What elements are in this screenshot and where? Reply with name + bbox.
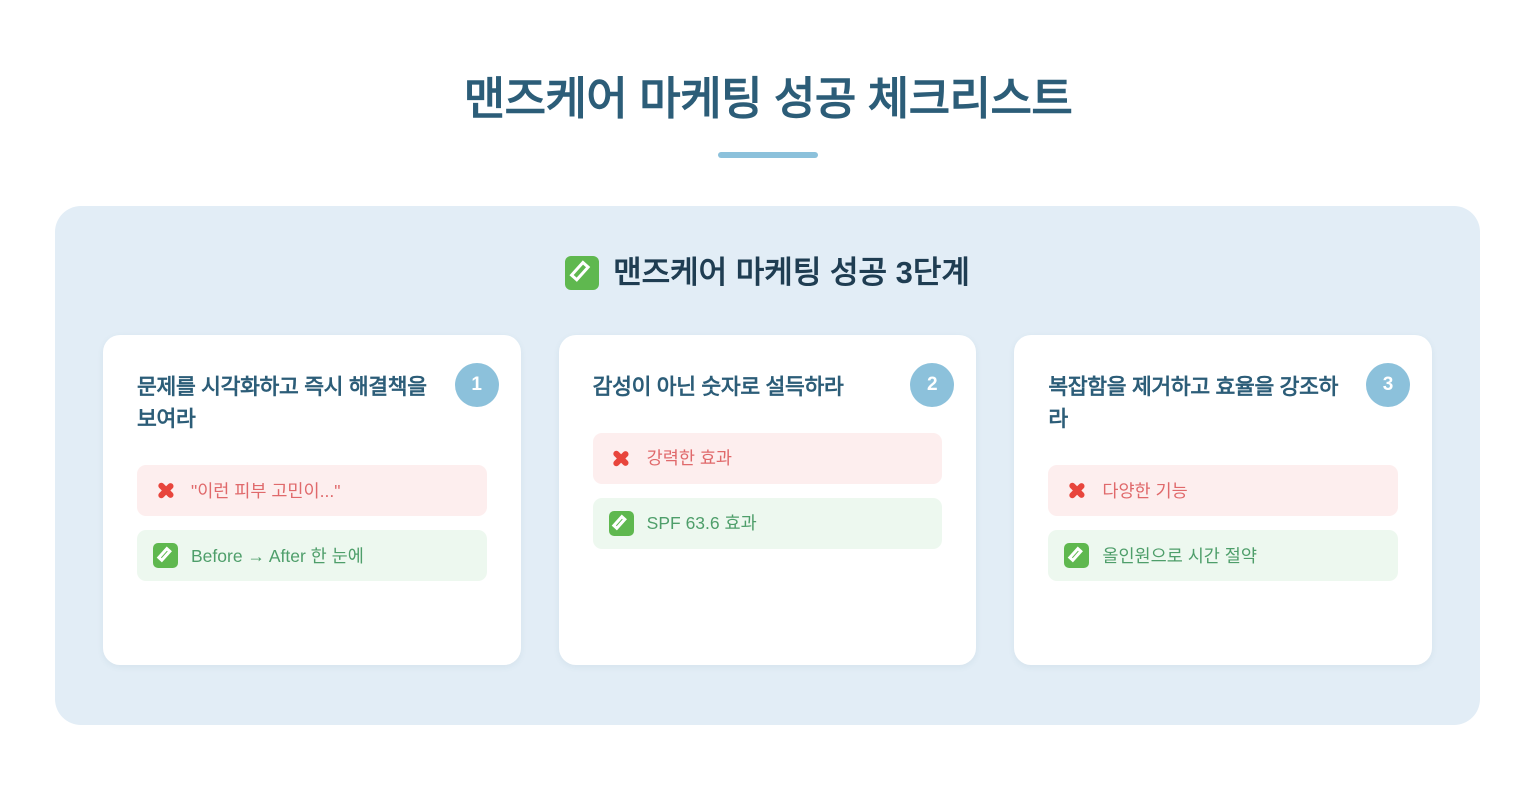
title-block: 맨즈케어 마케팅 성공 체크리스트: [0, 0, 1536, 158]
white-heavy-check-mark-icon: [153, 543, 178, 568]
dont-row: "이런 피부 고민이...": [137, 465, 487, 516]
white-heavy-check-mark-icon: [609, 511, 634, 536]
do-row-label: Before → After 한 눈에: [191, 544, 364, 569]
do-row: 올인원으로 시간 절약: [1048, 530, 1398, 581]
dont-row-label: 다양한 기능: [1102, 479, 1187, 504]
title-underline-accent: [718, 152, 818, 158]
step-card[interactable]: 2 감성이 아닌 숫자로 설득하라 강력한 효과 SPF 63.6 효과: [559, 335, 977, 665]
cross-mark-icon: [609, 446, 634, 471]
step-card-title: 감성이 아닌 숫자로 설득하라: [593, 371, 887, 403]
do-row-label: 올인원으로 시간 절약: [1102, 544, 1257, 569]
dont-row: 다양한 기능: [1048, 465, 1398, 516]
step-card[interactable]: 3 복잡함을 제거하고 효율을 강조하라 다양한 기능 올인원으로 시간 절약: [1014, 335, 1432, 665]
step-number-badge: 2: [910, 363, 954, 407]
page-title: 맨즈케어 마케팅 성공 체크리스트: [0, 72, 1536, 126]
cross-mark-icon: [153, 478, 178, 503]
dont-row: 강력한 효과: [593, 433, 943, 484]
panel-heading-label: 맨즈케어 마케팅 성공 3단계: [613, 254, 970, 293]
white-heavy-check-mark-icon: [565, 256, 599, 290]
dont-row-label: 강력한 효과: [647, 446, 732, 471]
cross-mark-icon: [1064, 478, 1089, 503]
white-heavy-check-mark-icon: [1064, 543, 1089, 568]
step-number-badge: 3: [1366, 363, 1410, 407]
do-row: Before → After 한 눈에: [137, 530, 487, 581]
infographic-page: 맨즈케어 마케팅 성공 체크리스트 맨즈케어 마케팅 성공 3단계 1 문제를 …: [0, 0, 1536, 805]
dont-row-label: "이런 피부 고민이...": [191, 479, 340, 504]
step-card[interactable]: 1 문제를 시각화하고 즉시 해결책을 보여라 "이런 피부 고민이..." B…: [103, 335, 521, 665]
do-row: SPF 63.6 효과: [593, 498, 943, 549]
step-card-title: 복잡함을 제거하고 효율을 강조하라: [1048, 371, 1342, 436]
step-card-list: 1 문제를 시각화하고 즉시 해결책을 보여라 "이런 피부 고민이..." B…: [103, 335, 1432, 665]
step-number-badge: 1: [455, 363, 499, 407]
steps-panel: 맨즈케어 마케팅 성공 3단계 1 문제를 시각화하고 즉시 해결책을 보여라 …: [55, 206, 1480, 725]
panel-heading: 맨즈케어 마케팅 성공 3단계: [103, 254, 1432, 293]
do-row-label: SPF 63.6 효과: [647, 511, 757, 536]
step-card-title: 문제를 시각화하고 즉시 해결책을 보여라: [137, 371, 431, 436]
